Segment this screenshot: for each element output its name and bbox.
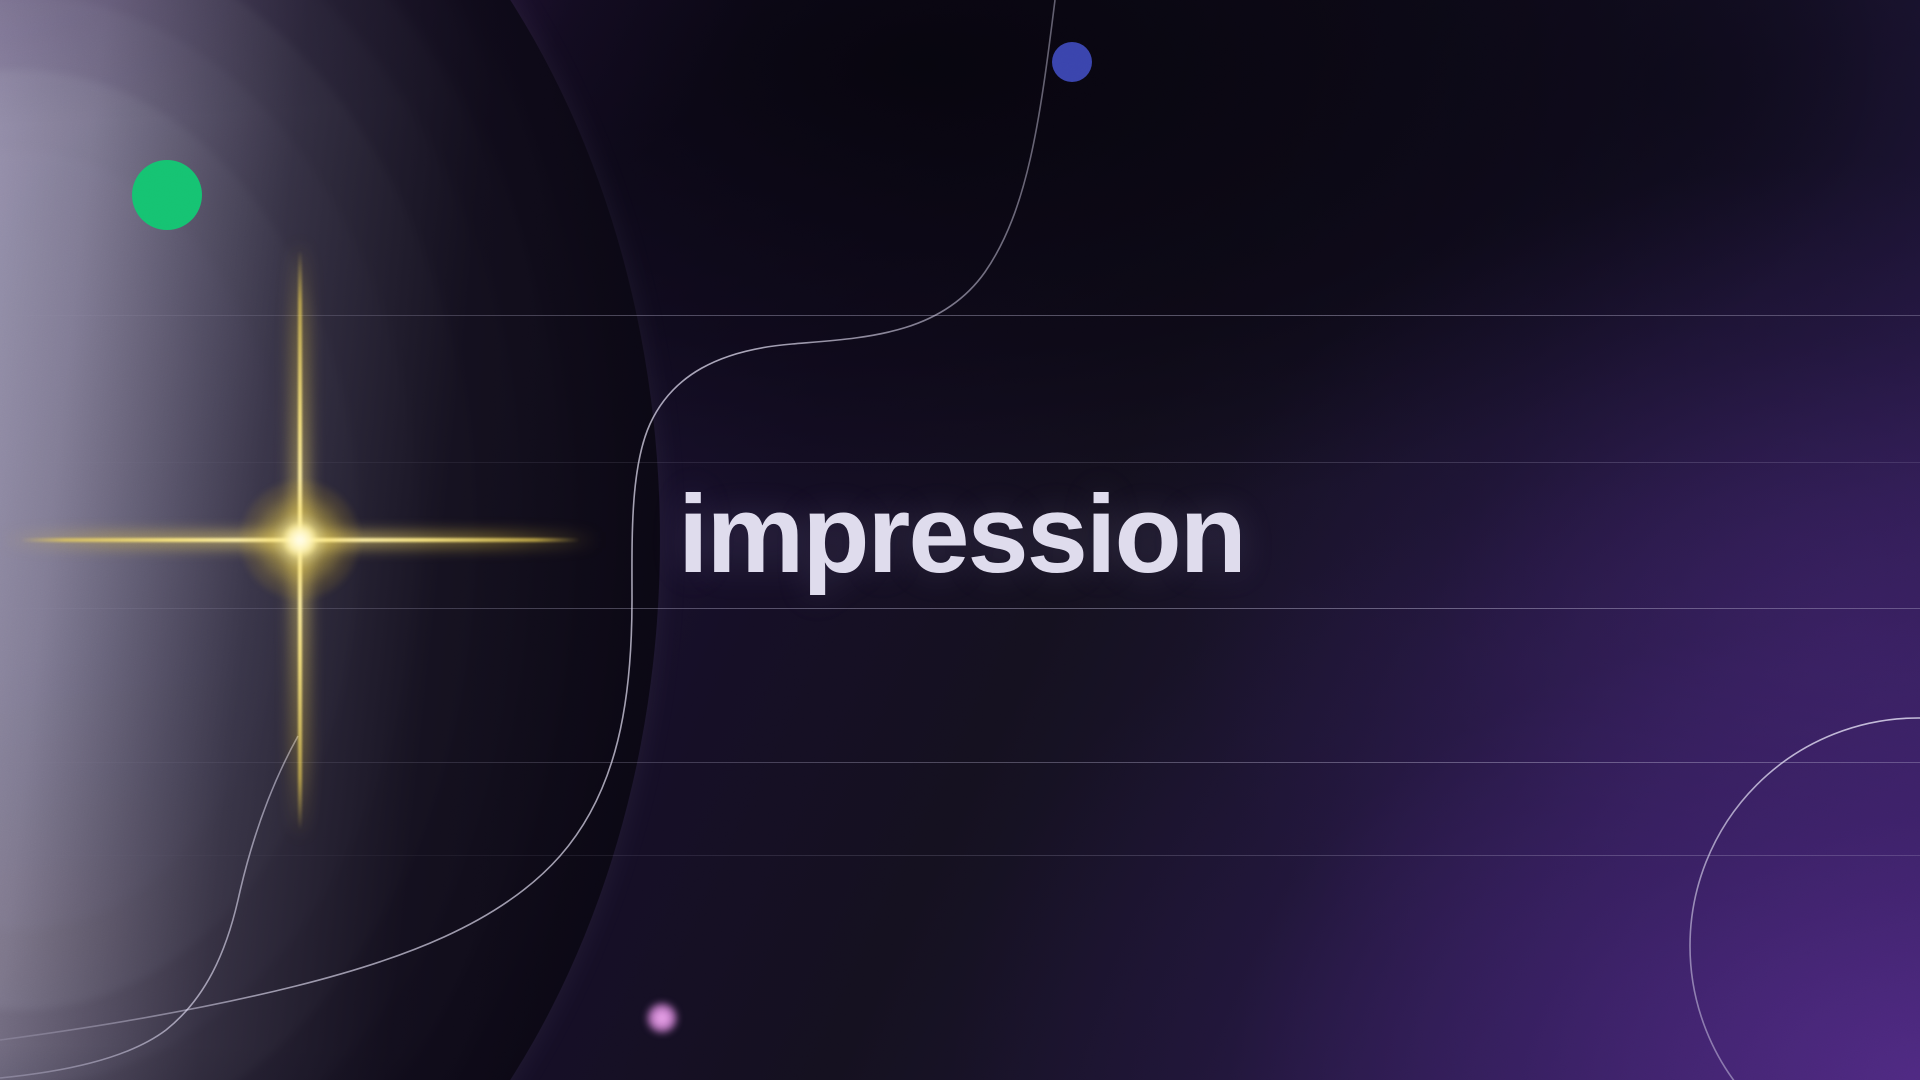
sparkle-vertical-glow	[292, 240, 308, 840]
sparkle-vertical-ray	[298, 250, 302, 830]
brand-wordmark: impression	[678, 480, 1245, 590]
hairline-rule-2	[0, 462, 1920, 463]
sphere-terminator-shading	[0, 0, 660, 1080]
sphere-ring-3	[0, 0, 528, 1080]
hairline-rule-5	[0, 855, 1920, 856]
sparkle-horizontal-glow	[0, 532, 600, 548]
accent-dot-blue	[1052, 42, 1092, 82]
hairline-rule-4	[0, 762, 1920, 763]
sphere-ring-4	[0, 0, 478, 1080]
hero-canvas: impression	[0, 0, 1920, 1080]
sparkle-hot-center	[283, 523, 317, 557]
hairline-rule-1	[0, 315, 1920, 316]
hairline-rule-3	[0, 608, 1920, 609]
sphere-ring-2	[0, 0, 573, 1080]
sphere-ring-5	[0, 0, 420, 1080]
corner-circle-arc	[1690, 718, 1920, 1080]
accent-dot-green	[132, 160, 202, 230]
accent-dot-pink	[646, 1002, 678, 1034]
sphere-bottom-fade	[0, 0, 660, 1080]
sparkle-core-glow	[240, 480, 360, 600]
s-curve-lower	[0, 736, 298, 1078]
sparkle-horizontal-ray	[20, 538, 580, 542]
sphere-ring-0	[0, 0, 655, 1080]
sphere-ring-7	[0, 150, 293, 930]
sphere-limb-highlight	[0, 0, 660, 1080]
sphere-ring-1	[0, 0, 615, 1080]
planet-sphere	[0, 0, 660, 1080]
sphere-top-fade	[0, 0, 660, 1080]
